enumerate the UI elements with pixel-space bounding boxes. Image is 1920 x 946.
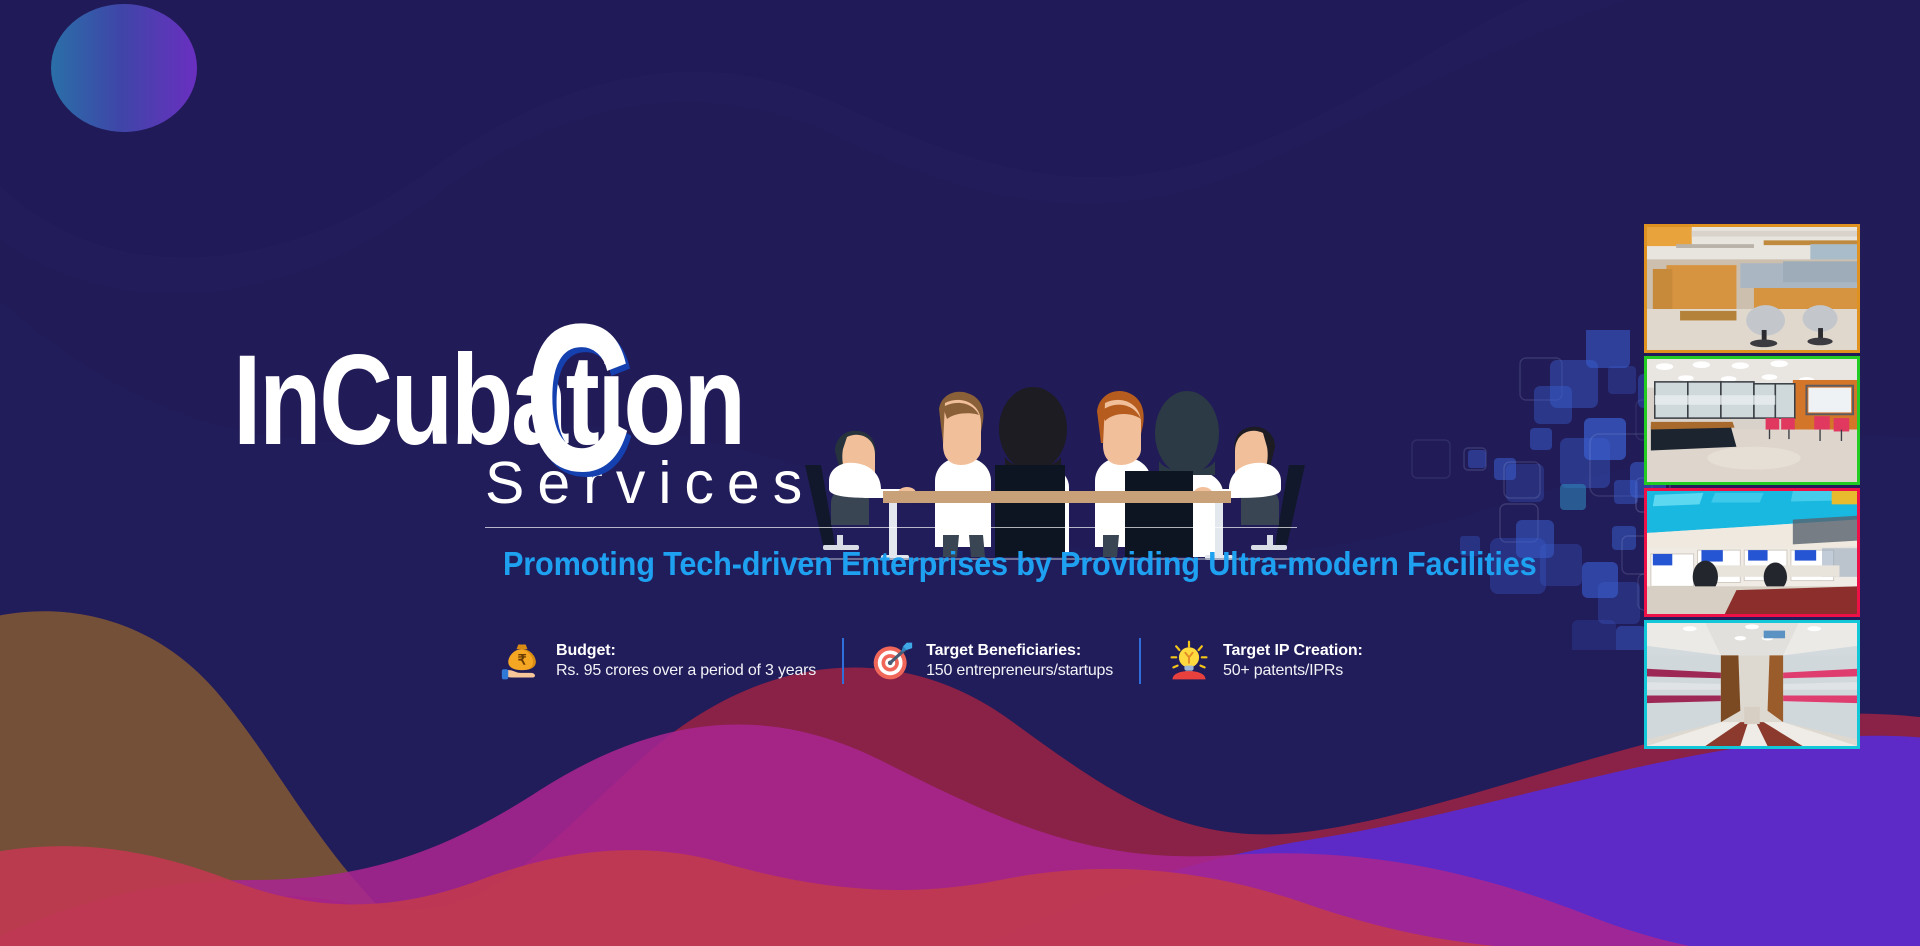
gradient-circle-decoration	[51, 4, 197, 132]
lightbulb-idea-icon	[1167, 638, 1211, 684]
glass-partition-corridor-photo	[1644, 620, 1860, 749]
target-dart-icon	[870, 638, 914, 684]
stat-label: Target IP Creation:	[1223, 642, 1363, 659]
team-meeting-illustration	[795, 385, 1315, 565]
stats-row: ₹ Budget: Rs. 95 crores over a period of…	[500, 631, 1363, 691]
stat-divider-2	[1139, 638, 1141, 684]
photo-collage	[1644, 224, 1860, 749]
headline-accent-letter: C	[525, 293, 631, 503]
blue-ceiling-workstations-photo	[1644, 488, 1860, 617]
stat-budget: ₹ Budget: Rs. 95 crores over a period of…	[500, 638, 816, 684]
stat-label: Budget:	[556, 642, 616, 659]
money-bag-in-hand-icon: ₹	[500, 638, 544, 684]
stat-value: 150 entrepreneurs/startups	[926, 662, 1113, 679]
open-plan-office-cubicles-photo	[1644, 224, 1860, 353]
reception-lobby-waiting-area-photo	[1644, 356, 1860, 485]
title-divider-rule	[485, 527, 1297, 528]
stat-divider-1	[842, 638, 844, 684]
tagline-text: Promoting Tech-driven Enterprises by Pro…	[503, 545, 1536, 583]
stat-value: 50+ patents/IPRs	[1223, 662, 1343, 679]
banner-canvas: InCubation C Services Promoting Tech-dri…	[0, 0, 1920, 946]
svg-text:₹: ₹	[518, 653, 527, 668]
stat-value: Rs. 95 crores over a period of 3 years	[556, 662, 816, 679]
stat-target-beneficiaries: Target Beneficiaries: 150 entrepreneurs/…	[870, 638, 1113, 684]
headline-primary-text: InCubation	[233, 337, 744, 465]
stat-label: Target Beneficiaries:	[926, 642, 1081, 659]
stat-target-ip-creation: Target IP Creation: 50+ patents/IPRs	[1167, 638, 1363, 684]
